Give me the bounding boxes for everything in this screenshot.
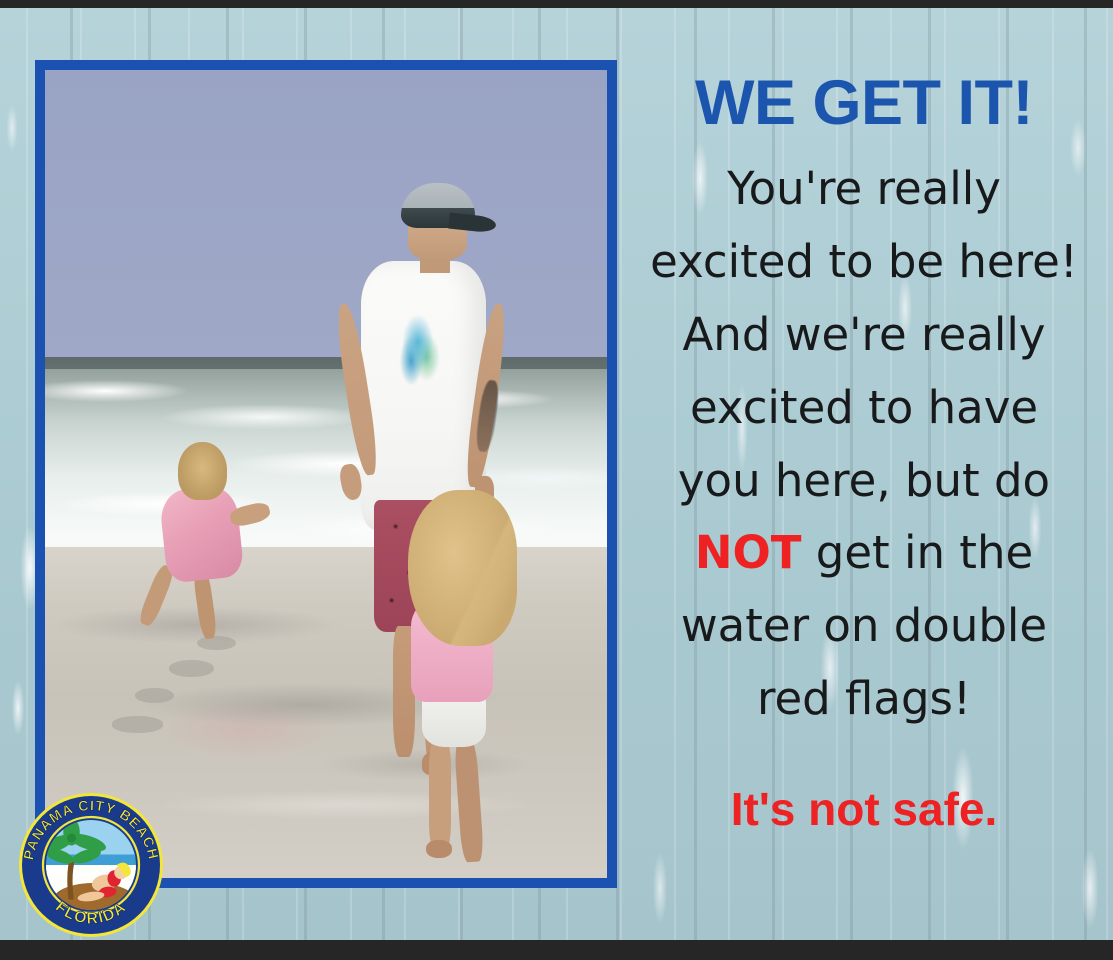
headline: WE GET IT! — [622, 72, 1106, 135]
poster-root: PANAMA CITY BEACH FLORIDA WE GET IT! You… — [0, 0, 1113, 960]
city-seal-icon: PANAMA CITY BEACH FLORIDA — [16, 790, 166, 940]
girl-jumping — [141, 442, 265, 652]
letterbox-bar-bottom — [0, 940, 1113, 960]
body-line: red flags! — [622, 663, 1106, 736]
left-hand — [338, 463, 364, 502]
body-line-with-emphasis: NOT get in the — [622, 517, 1106, 590]
leg — [429, 739, 451, 851]
panama-city-beach-logo: PANAMA CITY BEACH FLORIDA — [16, 790, 166, 940]
girl-running — [382, 490, 528, 862]
long-blonde-hair — [408, 490, 516, 646]
body-line: excited to have — [622, 372, 1106, 445]
photo-frame — [35, 60, 617, 888]
blonde-hair — [178, 442, 227, 501]
bare-foot — [426, 840, 452, 859]
body-line: excited to be here! — [622, 226, 1106, 299]
sky — [45, 70, 607, 361]
body-line-tail: get in the — [801, 526, 1033, 579]
footprint — [112, 716, 163, 732]
beach-photo — [45, 70, 607, 878]
message-column: WE GET IT! You're really excited to be h… — [622, 72, 1106, 912]
leg — [454, 739, 484, 863]
body-line: You're really — [622, 153, 1106, 226]
body-copy: You're really excited to be here! And we… — [622, 153, 1106, 736]
emphasis-not: NOT — [695, 526, 802, 579]
body-line: you here, but do — [622, 445, 1106, 518]
footprint — [169, 660, 214, 677]
tshirt-graphic — [393, 309, 447, 393]
kicker-warning: It's not safe. — [622, 784, 1106, 835]
body-line: water on double — [622, 590, 1106, 663]
letterbox-bar-top — [0, 0, 1113, 8]
body-line: And we're really — [622, 299, 1106, 372]
